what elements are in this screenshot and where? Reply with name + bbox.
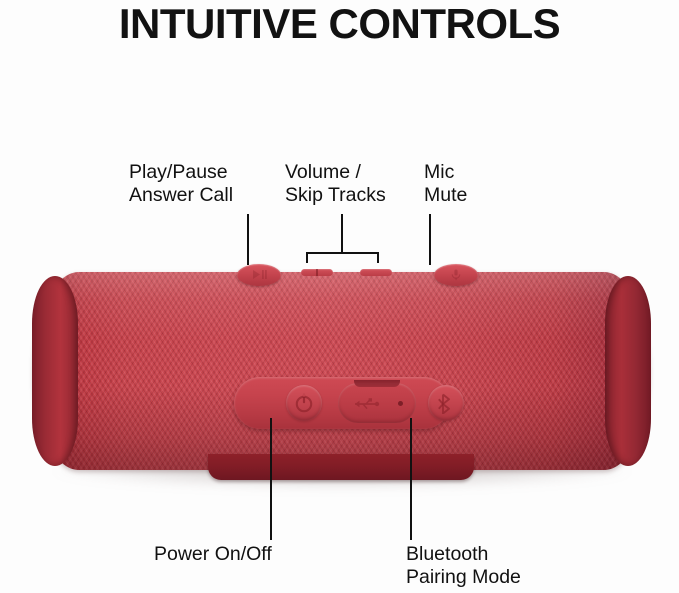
mic-mute-button[interactable] <box>434 264 478 286</box>
front-control-panel <box>234 377 450 429</box>
speaker-body-shading <box>33 272 650 470</box>
play-pause-icon <box>249 269 269 280</box>
infographic-canvas: INTUITIVE CONTROLS Play/Pause Answer Cal… <box>0 0 679 593</box>
leader-line-volume-stem <box>341 214 343 254</box>
callout-label-power: Power On/Off <box>154 543 272 566</box>
speaker-base-foot <box>208 454 474 480</box>
plus-icon <box>316 269 318 276</box>
callout-label-bluetooth-pairing: Bluetooth Pairing Mode <box>406 543 521 589</box>
power-icon <box>293 392 315 414</box>
leader-line-bluetooth <box>410 418 412 540</box>
bluetooth-icon <box>436 392 456 414</box>
speaker-illustration <box>33 272 650 472</box>
leader-bracket-volume-bar <box>306 252 379 254</box>
microphone-icon <box>449 269 463 281</box>
charging-port-housing[interactable] <box>338 383 416 423</box>
leader-bracket-volume-leg-right <box>377 252 379 263</box>
volume-up-button[interactable] <box>301 269 333 276</box>
speaker-end-cap-left <box>32 276 78 466</box>
leader-line-power <box>270 418 272 540</box>
port-top-notch <box>354 380 400 387</box>
leader-line-play-pause <box>247 214 249 265</box>
callout-label-play-pause: Play/Pause Answer Call <box>129 161 233 207</box>
page-title: INTUITIVE CONTROLS <box>0 2 679 46</box>
callout-label-mic-mute: Mic Mute <box>424 161 467 207</box>
volume-down-button[interactable] <box>360 269 392 276</box>
play-pause-button[interactable] <box>237 264 281 286</box>
bluetooth-button[interactable] <box>428 385 464 421</box>
power-button[interactable] <box>286 385 322 421</box>
speaker-body <box>33 272 650 470</box>
status-indicator-dot <box>398 401 403 406</box>
leader-line-mic-mute <box>429 214 431 265</box>
usb-port-icon <box>351 396 391 412</box>
callout-label-volume-skip: Volume / Skip Tracks <box>285 161 386 207</box>
leader-bracket-volume-leg-left <box>306 252 308 263</box>
speaker-end-cap-right <box>605 276 651 466</box>
